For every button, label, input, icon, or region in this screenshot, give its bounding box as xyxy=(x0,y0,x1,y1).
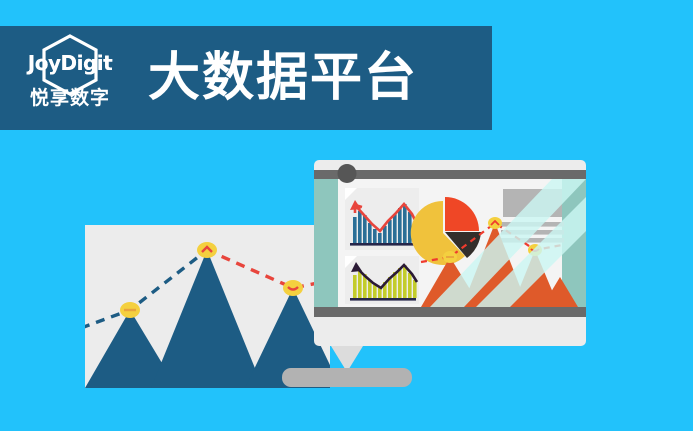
monitor-stand-base xyxy=(282,368,412,387)
header-banner: JoyDigit 悦享数字 大数据平台 xyxy=(0,26,492,130)
data-marker xyxy=(120,302,140,318)
page-title: 大数据平台 xyxy=(148,52,418,104)
monitor-screen xyxy=(314,179,586,307)
brand-wordmark: JoyDigit xyxy=(28,53,112,73)
illustration-stage: JoyDigit 悦享数字 大数据平台 xyxy=(0,0,693,431)
monitor-bottom-bar xyxy=(314,307,586,317)
dashboard-canvas xyxy=(314,179,586,307)
background-area-chart xyxy=(85,225,330,388)
trend-line-red xyxy=(207,250,330,288)
bar-chart-card-blue[interactable] xyxy=(345,188,419,250)
bar-chart-card-olive[interactable] xyxy=(345,256,419,304)
brand-subtitle: 悦享数字 xyxy=(30,89,110,108)
data-marker xyxy=(443,251,457,263)
desktop-monitor xyxy=(314,160,586,346)
monitor-camera-dot xyxy=(337,164,356,183)
data-marker xyxy=(283,280,303,296)
mountain-tall-center xyxy=(151,250,263,388)
data-marker xyxy=(488,217,502,229)
data-marker xyxy=(197,242,217,258)
brand-logo: JoyDigit 悦享数字 xyxy=(14,32,126,124)
background-area-chart-svg xyxy=(85,225,330,388)
